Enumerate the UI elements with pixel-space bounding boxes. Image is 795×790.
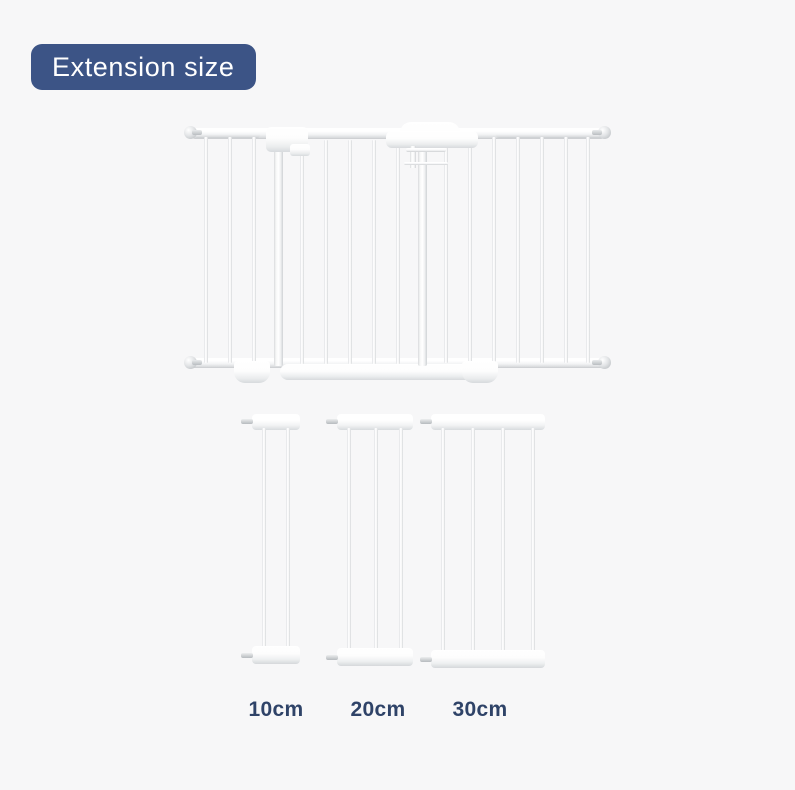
gate-bottom-left-spindle-shaft [192, 360, 202, 365]
gate-latch-crossbar-lower [404, 162, 448, 165]
gate-top-left-spindle-shaft [192, 130, 202, 135]
gate-bar [564, 137, 568, 363]
extension-bar [399, 428, 403, 652]
gate-bar [540, 137, 544, 363]
extension-size-badge: Extension size [31, 44, 256, 90]
gate-bar [396, 140, 400, 364]
gate-bar [204, 137, 208, 363]
gate-bar [252, 137, 256, 363]
extension-size-label-10cm: 10cm [238, 698, 314, 722]
gate-bar [444, 137, 448, 363]
gate-foot-pad-left [234, 361, 270, 383]
extension-bar [286, 428, 290, 650]
gate-bar [468, 137, 472, 363]
extension-size-label-20cm: 20cm [340, 698, 416, 722]
gate-door-left-post [274, 134, 283, 366]
gate-bar [372, 140, 376, 364]
gate-bar [228, 137, 232, 363]
gate-door-right-post [418, 134, 427, 366]
gate-bottom-right-spindle-shaft [592, 360, 602, 365]
gate-foot-pad-right [462, 361, 498, 383]
gate-bar [324, 140, 328, 364]
gate-threshold-bar [280, 364, 475, 380]
extension-panel-10cm [252, 414, 300, 664]
safety-gate-illustration [178, 118, 618, 393]
extension-bottom-rail [337, 648, 413, 666]
extension-bottom-pin [241, 653, 253, 658]
extension-bar [347, 428, 351, 652]
gate-bar [348, 140, 352, 364]
extension-size-badge-label: Extension size [52, 54, 235, 81]
extension-top-pin [241, 419, 253, 424]
extension-bar [441, 428, 445, 654]
extension-bottom-rail [252, 646, 300, 664]
extension-bottom-pin [326, 655, 338, 660]
extension-bar [501, 428, 505, 654]
extension-size-label-30cm: 30cm [442, 698, 518, 722]
extension-bottom-rail [431, 650, 545, 668]
extension-bottom-pin [420, 657, 432, 662]
gate-bar [586, 137, 590, 363]
gate-latch-body [386, 131, 478, 148]
gate-top-right-spindle-shaft [592, 130, 602, 135]
extension-top-rail [252, 414, 300, 430]
extension-top-pin [420, 419, 432, 424]
gate-latch-crossbar [406, 148, 446, 152]
gate-hinge-bracket-tail [290, 144, 310, 156]
extension-top-pin [326, 419, 338, 424]
extension-panel-30cm [431, 414, 545, 668]
extension-bar [262, 428, 266, 650]
gate-bar [300, 140, 304, 364]
extension-top-rail [431, 414, 545, 430]
gate-bar [492, 137, 496, 363]
extension-bar [471, 428, 475, 654]
extension-panel-20cm [337, 414, 413, 666]
extension-bar [374, 428, 378, 652]
gate-bar [516, 137, 520, 363]
extension-bar [531, 428, 535, 654]
